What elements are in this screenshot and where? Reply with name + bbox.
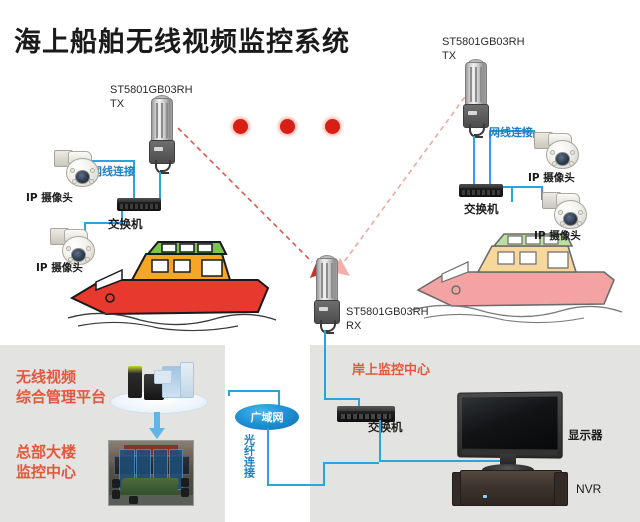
cable-wan-up-to-rx: [323, 462, 325, 486]
cable-wan-shore-tie: [323, 462, 379, 464]
cable-left-radio-to-switch: [159, 172, 161, 200]
hq-center-label: 总部大楼 监控中心: [16, 442, 76, 483]
ship-left-camera-bottom: [50, 226, 96, 264]
shore-center-title: 岸上监控中心: [352, 362, 430, 380]
ellipsis-dot: [233, 119, 248, 134]
shore-monitor: [456, 392, 560, 478]
diagram-canvas: 海上船舶无线视频监控系统 ST5: [0, 0, 640, 522]
ship-right-camera-bottom: [542, 190, 588, 228]
cable-wan-top-run: [228, 390, 280, 392]
hq-control-room-photo: [108, 440, 194, 506]
cable-wan-to-hq: [228, 390, 230, 396]
ship-right-link-label: 网线连接: [489, 126, 533, 140]
hq-server-cluster: [110, 352, 206, 414]
hq-flow-arrow-icon: [148, 412, 166, 440]
cable-wan-fiber-down: [267, 428, 269, 486]
shore-nvr-label: NVR: [576, 482, 601, 497]
ellipsis-dot: [280, 119, 295, 134]
cable-right-cam2-drop: [511, 186, 513, 202]
cable-wan-to-rx-run: [267, 484, 325, 486]
cable-rx-down: [324, 330, 326, 400]
shore-radio-rx: [313, 258, 339, 332]
cable-rx-to-shore-switch: [324, 398, 360, 400]
ship-right-illustration: [404, 228, 632, 326]
ship-right-camera-top: [534, 130, 580, 168]
ship-left-switch-label: 交换机: [108, 217, 143, 231]
ship-right-switch: [459, 184, 503, 197]
wan-fiber-label: 光纤连接: [243, 434, 255, 478]
shore-monitor-label: 显示器: [568, 428, 603, 442]
ship-right-switch-label: 交换机: [464, 202, 499, 216]
ship-right-camera-bottom-label: IP 摄像头: [534, 230, 581, 243]
shore-nvr: [452, 470, 568, 508]
ship-right-radio-label: ST5801GB03RH TX: [442, 36, 525, 64]
wan-label: 广域网: [251, 409, 284, 425]
shore-switch-label: 交换机: [368, 420, 403, 434]
shore-radio-rx-label: ST5801GB03RH RX: [346, 306, 429, 334]
page-title: 海上船舶无线视频监控系统: [14, 20, 350, 59]
ship-left-camera-top-label: IP 摄像头: [26, 192, 73, 205]
ship-left-radio-label: ST5801GB03RH TX: [110, 84, 193, 112]
cable-right-cam2-run: [511, 186, 543, 188]
ship-left-camera-top: [54, 148, 100, 186]
hq-platform-label: 无线视频 综合管理平台: [16, 367, 106, 408]
cable-shore-switch-down: [379, 420, 381, 462]
ship-left-camera-bottom-label: IP 摄像头: [36, 262, 83, 275]
ship-right-camera-top-label: IP 摄像头: [528, 172, 575, 185]
cable-right-radio-to-switch: [473, 136, 475, 186]
ship-right-radio-tx: [462, 62, 488, 136]
ship-left-switch: [117, 198, 161, 211]
wan-node: 广域网: [235, 404, 299, 430]
ellipsis-dot: [325, 119, 340, 134]
